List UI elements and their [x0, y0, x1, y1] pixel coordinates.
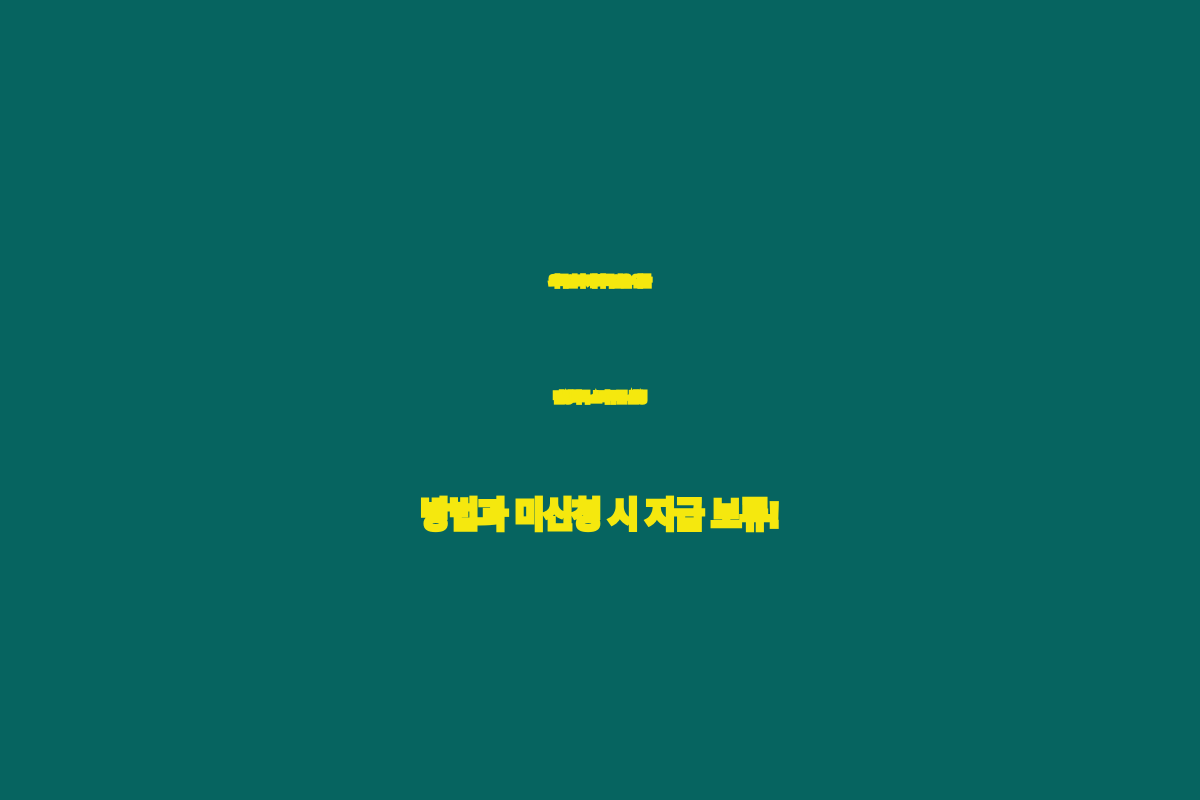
banner-canvas: 외국인과 재외국인을 위한 민생회복 소비쿠폰 신청 방법과 미신청 시 지급 …	[0, 0, 1200, 800]
headline-line-2: 민생회복 소비쿠폰 신청	[0, 338, 1200, 461]
headline-block: 외국인과 재외국인을 위한 민생회복 소비쿠폰 신청 방법과 미신청 시 지급 …	[0, 225, 1200, 573]
headline-line-3: 방법과 미신청 시 지급 보류!	[0, 454, 1200, 577]
headline-line-1: 외국인과 재외국인을 위한	[0, 222, 1200, 345]
